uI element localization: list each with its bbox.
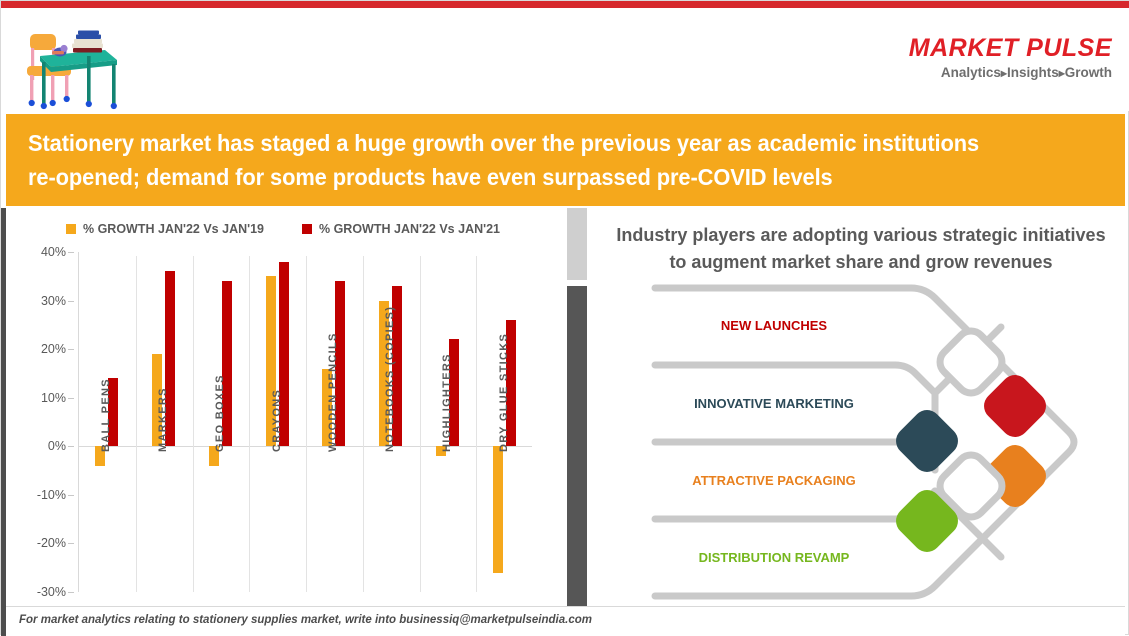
chart-legend: % GROWTH JAN'22 Vs JAN'19% GROWTH JAN'22…: [66, 222, 500, 236]
y-axis-tick-mark-7: [68, 592, 74, 593]
headline-banner: Stationery market has staged a huge grow…: [6, 114, 1125, 206]
legend-label-1: % GROWTH JAN'22 Vs JAN'21: [319, 222, 500, 236]
legend-item-1[interactable]: % GROWTH JAN'22 Vs JAN'21: [302, 222, 500, 236]
legend-item-0[interactable]: % GROWTH JAN'22 Vs JAN'19: [66, 222, 264, 236]
y-axis-tick-label-5: -10%: [37, 488, 66, 502]
initiative-label-2[interactable]: ATTRACTIVE PACKAGING: [649, 473, 899, 488]
y-axis-tick-mark-3: [68, 398, 74, 399]
chart-bar-7-0[interactable]: [493, 446, 503, 572]
legend-label-0: % GROWTH JAN'22 Vs JAN'19: [83, 222, 264, 236]
divider-bar-dark: [567, 286, 587, 621]
initiative-label-1[interactable]: INNOVATIVE MARKETING: [649, 396, 899, 411]
chart-category-separator-5: [363, 256, 364, 592]
chart-category-label-5: NOTEBOOKS (COPIES): [384, 306, 396, 452]
header: MARKET PULSE Analytics▸Insights▸Growth: [1, 8, 1129, 111]
initiatives-title: Industry players are adopting various st…: [597, 222, 1125, 276]
tagline-analytics: Analytics: [941, 65, 1001, 80]
chart-category-label-7: DRY GLUE STICKS: [498, 333, 510, 452]
brand-logo-name: MARKET PULSE: [909, 36, 1112, 61]
y-axis-tick-mark-2: [68, 349, 74, 350]
brand-logo-tagline: Analytics▸Insights▸Growth: [909, 66, 1112, 80]
legend-swatch-icon-0: [66, 224, 76, 234]
initiatives-panel: Industry players are adopting various st…: [597, 208, 1125, 606]
headline-line-2: re-opened; demand for some products have…: [28, 160, 1028, 194]
y-axis-tick-label-7: -30%: [37, 585, 66, 599]
chart-category-label-1: MARKERS: [157, 388, 169, 453]
y-axis-tick-label-1: 30%: [41, 294, 66, 308]
initiative-label-3[interactable]: DISTRIBUTION REVAMP: [649, 550, 899, 565]
chart-category-label-2: GEO BOXES: [214, 375, 226, 453]
chart-category-separator-2: [193, 256, 194, 592]
growth-bar-chart: % GROWTH JAN'22 Vs JAN'19% GROWTH JAN'22…: [6, 208, 554, 606]
initiative-label-0[interactable]: NEW LAUNCHES: [649, 318, 899, 333]
slide-root: MARKET PULSE Analytics▸Insights▸Growth S…: [0, 0, 1129, 635]
y-axis-tick-mark-4: [68, 446, 74, 447]
chart-category-label-3: CRAYONS: [271, 389, 283, 452]
tagline-insights: Insights: [1007, 65, 1059, 80]
initiatives-title-line-2: to augment market share and grow revenue…: [597, 249, 1125, 276]
y-axis-tick-label-0: 40%: [41, 245, 66, 259]
chart-category-label-0: BALL PENS: [100, 378, 112, 452]
y-axis-tick-label-4: 0%: [48, 439, 66, 453]
initiatives-title-line-1: Industry players are adopting various st…: [597, 222, 1125, 249]
top-red-rule: [1, 1, 1129, 8]
chart-plot-area: BALL PENSMARKERSGEO BOXESCRAYONSWOODEN P…: [78, 252, 532, 592]
chart-y-axis: 40%30%20%10%0%-10%-20%-30%: [22, 252, 74, 592]
school-desk-illustration-icon: [13, 20, 123, 112]
chart-category-separator-3: [249, 256, 250, 592]
chart-category-label-6: HIGHLIGHTERS: [441, 354, 453, 453]
divider-bar-light: [567, 208, 587, 280]
y-axis-tick-mark-5: [68, 495, 74, 496]
y-axis-tick-label-3: 10%: [41, 391, 66, 405]
footer-contact-text: For market analytics relating to station…: [19, 614, 592, 626]
y-axis-tick-label-2: 20%: [41, 342, 66, 356]
legend-swatch-icon-1: [302, 224, 312, 234]
y-axis-tick-mark-6: [68, 543, 74, 544]
footer: For market analytics relating to station…: [6, 606, 1125, 636]
initiatives-arrow-diagram: NEW LAUNCHES INNOVATIVE MARKETING ATTRAC…: [649, 284, 1081, 600]
y-axis-tick-mark-0: [68, 252, 74, 253]
brand-logo: MARKET PULSE Analytics▸Insights▸Growth: [909, 36, 1112, 80]
tagline-growth: Growth: [1065, 65, 1112, 80]
y-axis-tick-label-6: -20%: [37, 536, 66, 550]
chart-plot: 40%30%20%10%0%-10%-20%-30% BALL PENSMARK…: [22, 252, 542, 592]
y-axis-tick-mark-1: [68, 301, 74, 302]
chart-category-separator-1: [136, 256, 137, 592]
chart-category-separator-6: [420, 256, 421, 592]
headline-line-1: Stationery market has staged a huge grow…: [28, 126, 1028, 160]
chart-category-separator-7: [476, 256, 477, 592]
chart-category-separator-4: [306, 256, 307, 592]
chart-category-label-4: WOODEN PENCILS: [327, 333, 339, 453]
